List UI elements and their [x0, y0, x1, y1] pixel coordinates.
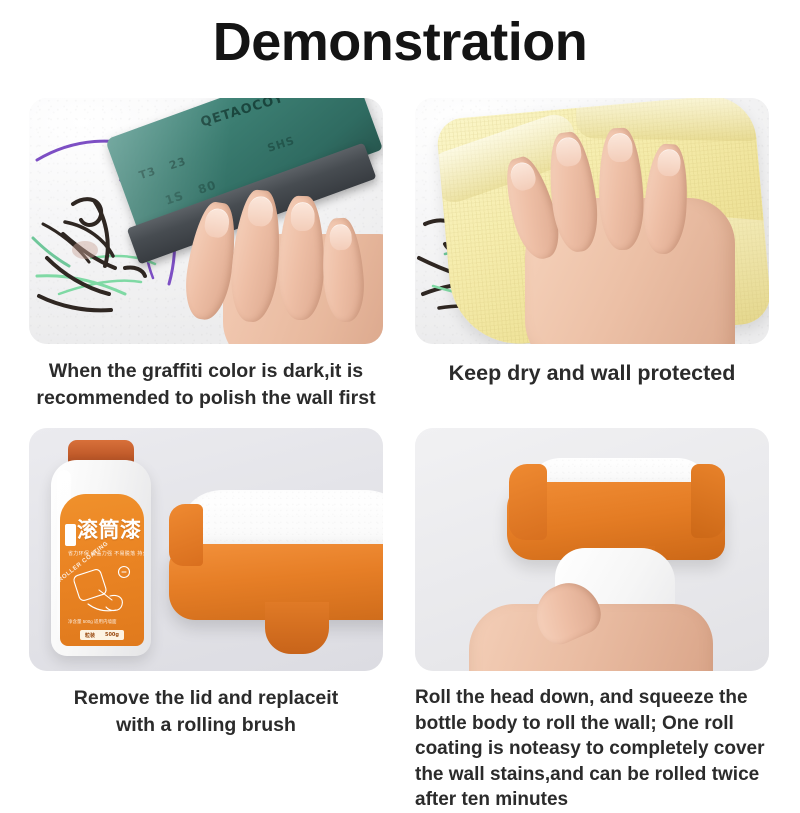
fingernail	[329, 223, 353, 250]
panel-roll-wall: Roll the head down, and squeeze the bott…	[415, 428, 769, 813]
fingernail	[554, 136, 582, 168]
caption-line: the wall stains,and can be rolled twice	[415, 762, 769, 788]
hand	[469, 578, 719, 671]
finger-ring	[597, 127, 645, 250]
badge-left-text: 粒装	[85, 632, 95, 639]
panel-wipe-caption: Keep dry and wall protected	[415, 358, 769, 388]
caption-line: Roll the head down, and squeeze the	[415, 685, 769, 711]
hand	[179, 176, 383, 344]
caption-line: bottle body to roll the wall; One roll	[415, 711, 769, 737]
badge-right-text: 500g	[105, 632, 119, 638]
roller-arm-left	[169, 504, 203, 566]
panel-replace-lid-photo: 滚筒漆 省力环保 遮盖力强 不易脱落 持久耐用 ROLLER COATING	[29, 428, 383, 671]
panel-polish: QETAOCOY T3 23 SHS 1S 80	[29, 98, 383, 412]
finger-ring	[278, 196, 325, 321]
panel-replace-lid-caption: Remove the lid and replaceit with a roll…	[29, 685, 383, 739]
caption-line: coating is noteasy to completely cover	[415, 736, 769, 762]
label-roller-illustration	[66, 560, 140, 622]
panel-roll-wall-photo	[415, 428, 769, 671]
panel-polish-caption: When the graffiti color is dark,it is re…	[29, 358, 383, 412]
hand	[507, 126, 747, 344]
roller-arm-left	[509, 464, 547, 540]
panel-roll-wall-caption: Roll the head down, and squeeze the bott…	[415, 685, 769, 813]
paint-bottle: 滚筒漆 省力环保 遮盖力强 不易脱落 持久耐用 ROLLER COATING	[51, 440, 151, 656]
panel-polish-photo: QETAOCOY T3 23 SHS 1S 80	[29, 98, 383, 344]
product-label: 滚筒漆 省力环保 遮盖力强 不易脱落 持久耐用 ROLLER COATING	[60, 494, 144, 646]
roller-arm-right	[691, 464, 725, 538]
label-fine-print: 净含量 500g 适用内墙面	[68, 619, 136, 625]
label-weight-badge: 粒装 500g	[80, 630, 124, 640]
caption-line: When the graffiti color is dark,it is	[29, 358, 383, 385]
page-title: Demonstration	[0, 12, 800, 72]
fingernail	[657, 148, 682, 177]
fingernail	[290, 202, 315, 231]
panel-wipe: Keep dry and wall protected	[415, 98, 769, 388]
panel-replace-lid: 滚筒漆 省力环保 遮盖力强 不易脱落 持久耐用 ROLLER COATING	[29, 428, 383, 739]
bottle-body: 滚筒漆 省力环保 遮盖力强 不易脱落 持久耐用 ROLLER COATING	[51, 460, 151, 656]
label-title: 滚筒漆	[77, 519, 142, 542]
fingernail	[203, 207, 231, 239]
roller-brush-head	[169, 490, 383, 660]
caption-line: recommended to polish the wall first	[29, 385, 383, 412]
fingernail	[508, 160, 539, 194]
roller-neck	[265, 602, 329, 654]
caption-line: Keep dry and wall protected	[415, 358, 769, 388]
fingernail	[247, 195, 275, 227]
label-side-tag	[65, 524, 76, 546]
demonstration-grid: QETAOCOY T3 23 SHS 1S 80	[0, 98, 800, 798]
fingernail	[607, 133, 633, 163]
panel-wipe-photo	[415, 98, 769, 344]
caption-line: Remove the lid and replaceit	[29, 685, 383, 712]
caption-line: with a rolling brush	[29, 712, 383, 739]
